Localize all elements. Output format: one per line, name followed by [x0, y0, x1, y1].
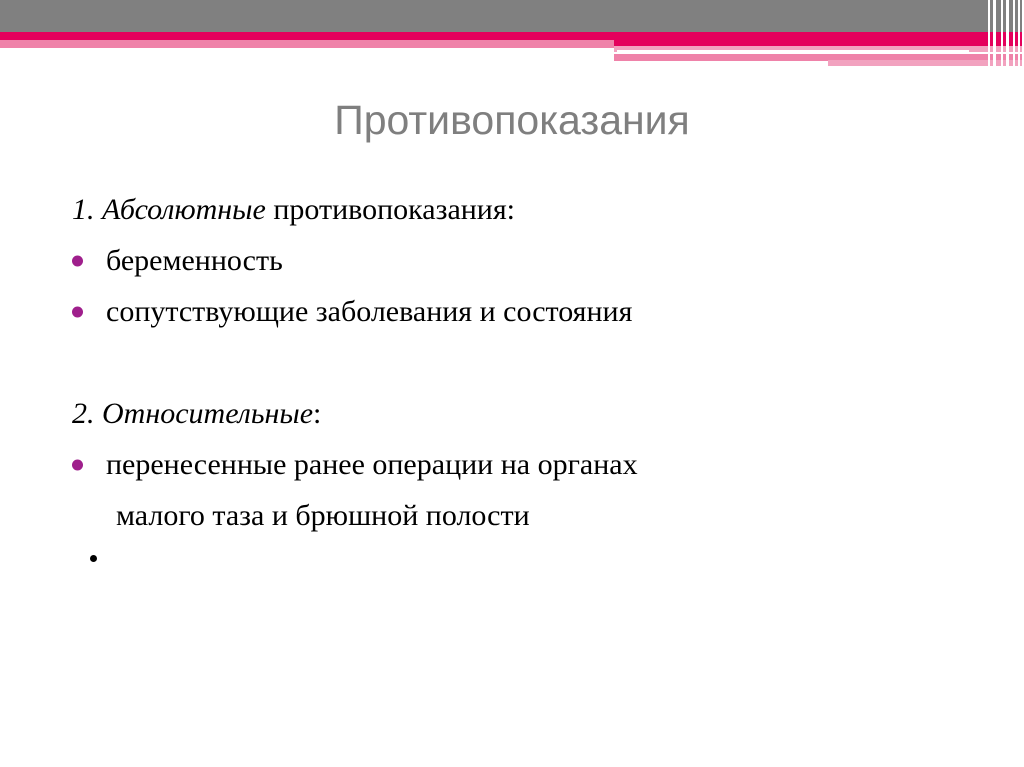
list-item-label: беременность [106, 244, 283, 277]
slide-canvas: Противопоказания 1. Абсолютные противопо… [0, 0, 1024, 767]
list-item: сопутствующие заболевания и состояния [64, 286, 964, 337]
banner-white-below [614, 66, 1024, 80]
section-one-emphasis: Абсолютные [102, 193, 266, 226]
bullet-dot-icon [72, 459, 83, 470]
section-spacer [64, 337, 964, 388]
list-item-label: сопутствующие заболевания и состояния [106, 295, 632, 328]
period-dot-icon [90, 555, 97, 562]
section-two-rest: : [313, 397, 321, 430]
section-one-heading: 1. Абсолютные противопоказания: [64, 184, 964, 235]
section-two-emphasis: Относительные [102, 397, 313, 430]
section-one-rest: противопоказания: [266, 193, 515, 226]
section-one-number: 1. [72, 193, 95, 226]
section-two-heading: 2. Относительные: [64, 388, 964, 439]
banner-crimson-step [614, 32, 1024, 46]
banner-pink-left [0, 40, 614, 48]
banner-gray-bar [0, 0, 1024, 32]
section-two-number: 2. [72, 397, 95, 430]
list-item-label: перенесенные ранее операции на органах [106, 448, 638, 481]
list-item: беременность [64, 235, 964, 286]
list-item: перенесенные ранее операции на органах [64, 439, 964, 490]
banner-white-left [0, 48, 614, 80]
slide-body: 1. Абсолютные противопоказания: беременн… [64, 184, 964, 541]
bullet-dot-icon [72, 306, 83, 317]
list-item-label-wrap: малого таза и брюшной полости [116, 499, 530, 532]
list-item-continuation: малого таза и брюшной полости [64, 490, 964, 541]
page-title: Противопоказания [0, 96, 1024, 144]
banner-edge-stripes [988, 0, 1024, 72]
bullet-dot-icon [72, 255, 83, 266]
decorative-banner [0, 0, 1024, 80]
